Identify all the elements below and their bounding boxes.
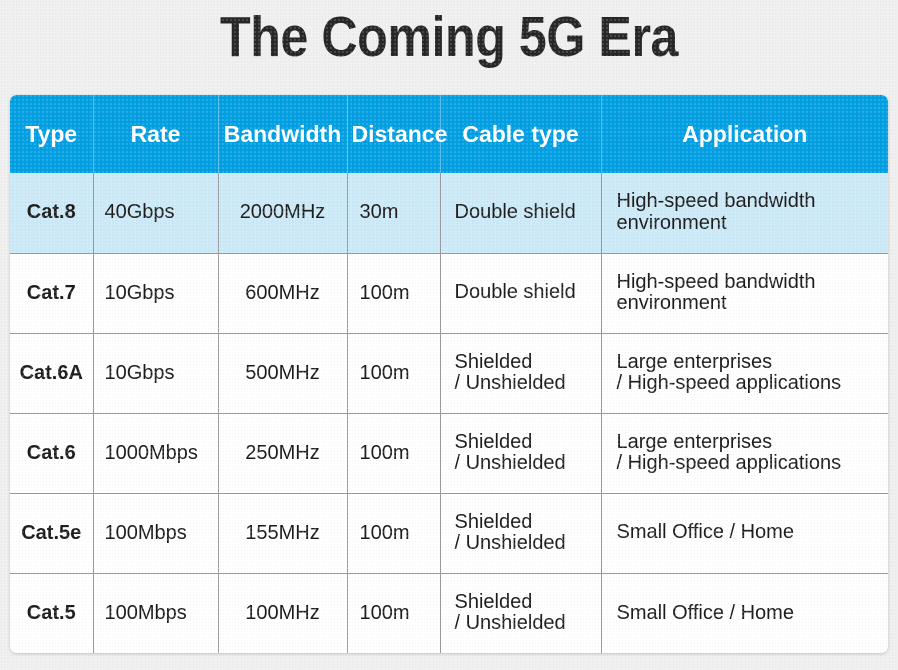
cell-application: Small Office / Home	[601, 493, 888, 573]
cell-distance: 100m	[347, 253, 440, 333]
cell-cable-type-text: Shielded / Unshielded	[455, 432, 601, 475]
cell-application-text: Small Office / Home	[617, 522, 881, 543]
cell-bandwidth: 100MHz	[218, 573, 347, 653]
table-body: Cat.8 40Gbps 2000MHz 30m Double shield H…	[10, 173, 888, 653]
column-header-distance: Distance	[347, 95, 440, 173]
table-row: Cat.7 10Gbps 600MHz 100m Double shield H…	[10, 253, 888, 333]
table-header: Type Rate Bandwidth Distance Cable type …	[10, 95, 888, 173]
page-title: The Coming 5G Era	[54, 3, 844, 71]
cell-application: Large enterprises / High-speed applicati…	[601, 413, 888, 493]
column-header-application: Application	[601, 95, 888, 173]
table-row: Cat.6 1000Mbps 250MHz 100m Shielded / Un…	[10, 413, 888, 493]
cell-rate: 10Gbps	[93, 253, 218, 333]
cell-cable-type: Shielded / Unshielded	[440, 333, 601, 413]
ethernet-cable-spec-table: Type Rate Bandwidth Distance Cable type …	[10, 95, 888, 653]
cell-application-text: Large enterprises / High-speed applicati…	[617, 352, 881, 395]
column-header-cable-type: Cable type	[440, 95, 601, 173]
cell-type: Cat.8	[10, 173, 93, 253]
column-header-bandwidth: Bandwidth	[218, 95, 347, 173]
cell-type: Cat.5e	[10, 493, 93, 573]
cell-type: Cat.5	[10, 573, 93, 653]
table-row: Cat.6A 10Gbps 500MHz 100m Shielded / Uns…	[10, 333, 888, 413]
cell-application: Large enterprises / High-speed applicati…	[601, 333, 888, 413]
cell-cable-type-text: Shielded / Unshielded	[455, 352, 601, 395]
cell-type: Cat.6A	[10, 333, 93, 413]
cell-cable-type-text: Double shield	[455, 202, 601, 223]
cell-bandwidth: 600MHz	[218, 253, 347, 333]
cell-rate: 40Gbps	[93, 173, 218, 253]
cell-rate: 100Mbps	[93, 493, 218, 573]
cell-distance: 100m	[347, 413, 440, 493]
cell-rate: 100Mbps	[93, 573, 218, 653]
cell-application: High-speed bandwidth environment	[601, 253, 888, 333]
cell-type: Cat.6	[10, 413, 93, 493]
table-row: Cat.8 40Gbps 2000MHz 30m Double shield H…	[10, 173, 888, 253]
cell-application-text: High-speed bandwidth environment	[617, 272, 881, 315]
cell-cable-type-text: Shielded / Unshielded	[455, 512, 601, 555]
cell-application-text: High-speed bandwidth environment	[617, 191, 881, 234]
table-header-row: Type Rate Bandwidth Distance Cable type …	[10, 95, 888, 173]
cell-cable-type: Shielded / Unshielded	[440, 573, 601, 653]
cell-cable-type: Shielded / Unshielded	[440, 493, 601, 573]
cell-rate: 1000Mbps	[93, 413, 218, 493]
cell-distance: 100m	[347, 493, 440, 573]
cell-distance: 30m	[347, 173, 440, 253]
infographic-page: The Coming 5G Era Type Rate Bandwidth Di…	[0, 0, 898, 670]
spec-table-container: Type Rate Bandwidth Distance Cable type …	[10, 95, 888, 653]
column-header-type: Type	[10, 95, 93, 173]
cell-bandwidth: 250MHz	[218, 413, 347, 493]
cell-cable-type: Double shield	[440, 173, 601, 253]
table-row: Cat.5e 100Mbps 155MHz 100m Shielded / Un…	[10, 493, 888, 573]
cell-distance: 100m	[347, 333, 440, 413]
cell-application: High-speed bandwidth environment	[601, 173, 888, 253]
cell-cable-type-text: Double shield	[455, 282, 601, 303]
column-header-rate: Rate	[93, 95, 218, 173]
table-row: Cat.5 100Mbps 100MHz 100m Shielded / Uns…	[10, 573, 888, 653]
cell-rate: 10Gbps	[93, 333, 218, 413]
cell-application-text: Small Office / Home	[617, 603, 881, 624]
cell-type: Cat.7	[10, 253, 93, 333]
cell-cable-type: Shielded / Unshielded	[440, 413, 601, 493]
cell-cable-type-text: Shielded / Unshielded	[455, 592, 601, 635]
cell-distance: 100m	[347, 573, 440, 653]
cell-application-text: Large enterprises / High-speed applicati…	[617, 432, 881, 475]
cell-application: Small Office / Home	[601, 573, 888, 653]
cell-bandwidth: 500MHz	[218, 333, 347, 413]
cell-cable-type: Double shield	[440, 253, 601, 333]
cell-bandwidth: 155MHz	[218, 493, 347, 573]
cell-bandwidth: 2000MHz	[218, 173, 347, 253]
